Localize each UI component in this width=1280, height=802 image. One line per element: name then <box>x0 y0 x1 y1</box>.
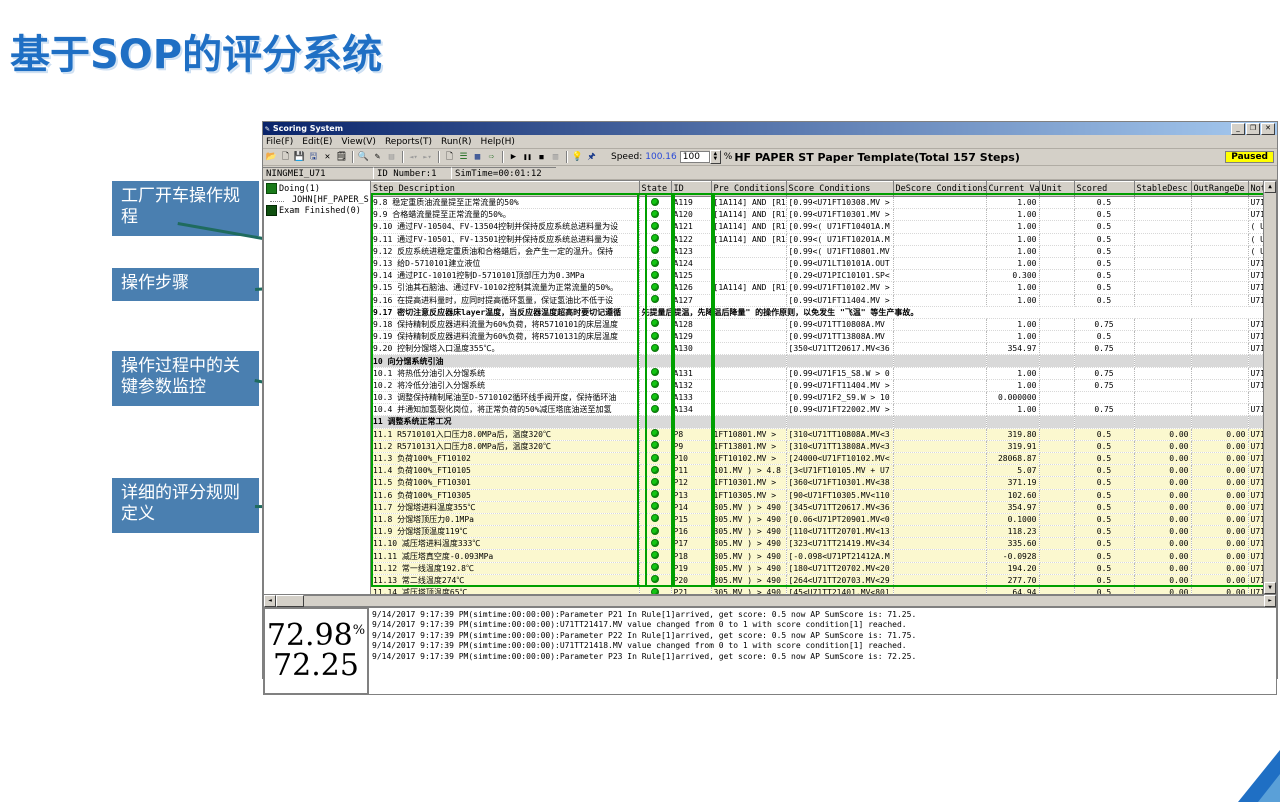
app-icon: ✎ <box>265 124 270 133</box>
cell-score-conditions: [310<U71TT13808A.MV<3 <box>786 440 893 452</box>
main-split: Doing(1) JOHN[HF_PAPER_S Exam Finished(0… <box>263 180 1277 595</box>
cell-pre-conditions: 1FT13801.MV > <box>711 440 786 452</box>
cell-current-value: 371.19 <box>986 477 1039 489</box>
cell-state <box>639 282 671 294</box>
table-row[interactable]: 9.17 密切注意反应器床layer温度，当反应器温度超高时要切记遵循先提量后提… <box>371 306 1277 318</box>
menu-item-edit[interactable]: Edit(E) <box>302 137 332 147</box>
state-led-icon <box>651 198 659 206</box>
cell-step-description: 9.9 合格蜡流量提至正常流量的50%。 <box>371 209 639 221</box>
cell-stable-desc: 0.00 <box>1134 574 1191 586</box>
id-number: ID Number:1 <box>373 167 451 179</box>
cell-out-range-de: 0.00 <box>1191 489 1248 501</box>
log-line: 9/14/2017 9:17:39 PM(simtime:00:00:00):U… <box>372 620 1273 630</box>
cell-stable-desc <box>1134 392 1191 404</box>
state-led-icon <box>651 393 659 401</box>
table-row[interactable]: 9.12 反应系统进稳定重质油和合格蜡后，会产生一定的温升。保持A123[0.9… <box>371 245 1277 257</box>
cell-unit <box>1039 562 1074 574</box>
cell-id <box>671 416 711 428</box>
cell-descore-conditions <box>893 331 986 343</box>
state-led-icon <box>651 405 659 413</box>
cell-out-range-de <box>1191 282 1248 294</box>
help-arrow-icon[interactable]: 🖈 <box>585 151 598 164</box>
cell-current-value: 64.94 <box>986 587 1039 596</box>
cell-scored: 0.5 <box>1074 574 1134 586</box>
cell-stable-desc <box>1134 331 1191 343</box>
cell-state <box>639 440 671 452</box>
cell-state <box>639 465 671 477</box>
cell-score-conditions: [24000<U71FT10102.MV< <box>786 452 893 464</box>
state-led-icon <box>651 563 659 571</box>
cell-scored: 0.75 <box>1074 367 1134 379</box>
col-id[interactable]: ID <box>671 182 711 197</box>
state-led-icon <box>651 466 659 474</box>
cell-state <box>639 416 671 428</box>
cell-current-value: 354.97 <box>986 343 1039 355</box>
state-led-icon <box>651 551 659 559</box>
cell-descore-conditions <box>893 294 986 306</box>
cell-stable-desc: 0.00 <box>1134 501 1191 513</box>
cell-unit <box>1039 209 1074 221</box>
col-unit[interactable]: Unit <box>1039 182 1074 197</box>
cell-step-description: 9.11 通过FV-10501、FV-13501控制并保持反应系统总进料量为设 <box>371 233 639 245</box>
cell-unit <box>1039 197 1074 209</box>
tree-node-exam-finished[interactable]: Exam Finished(0) <box>266 205 370 216</box>
cell-out-range-de <box>1191 379 1248 391</box>
menu-item-file[interactable]: File(F) <box>266 137 293 147</box>
cell-scored: 0.5 <box>1074 270 1134 282</box>
cell-score-conditions <box>786 355 893 367</box>
cell-step-description: 11.3 负荷100%_FT10102 <box>371 452 639 464</box>
cell-score-conditions: [323<U71TT21419.MV<34 <box>786 538 893 550</box>
cell-state <box>639 379 671 391</box>
cell-step-description: 11.7 分馏塔进料温度355℃ <box>371 501 639 513</box>
cell-step-description: 11.10 减压塔进料温度333℃ <box>371 538 639 550</box>
cell-stable-desc: 0.00 <box>1134 465 1191 477</box>
cell-pre-conditions: 1FT10801.MV > <box>711 428 786 440</box>
cell-pre-conditions <box>711 379 786 391</box>
cell-id: P19 <box>671 562 711 574</box>
state-led-icon <box>651 368 659 376</box>
cell-pre-conditions: [1A114] AND [R1 <box>711 282 786 294</box>
h-scroll-thumb[interactable] <box>276 595 304 607</box>
cell-out-range-de: 0.00 <box>1191 465 1248 477</box>
tree-node-doing[interactable]: Doing(1) <box>266 183 370 194</box>
cell-unit <box>1039 489 1074 501</box>
cell-state <box>639 562 671 574</box>
cell-current-value <box>986 416 1039 428</box>
cell-score-conditions: [0.99<U71F15_S8.W > 0 <box>786 367 893 379</box>
cell-scored: 0.5 <box>1074 587 1134 596</box>
cell-stable-desc: 0.00 <box>1134 513 1191 525</box>
menu-item-run[interactable]: Run(R) <box>441 137 472 147</box>
status-badge: Paused <box>1225 151 1274 163</box>
cell-scored: 0.75 <box>1074 343 1134 355</box>
cell-state <box>639 428 671 440</box>
col-score-conditions[interactable]: Score Conditions <box>786 182 893 197</box>
cell-step-description: 9.14 通过PIC-10101控制D-5710101顶部压力为0.3MPa <box>371 270 639 282</box>
log-panel[interactable]: 9/14/2017 9:17:39 PM(simtime:00:00:00):P… <box>369 607 1277 695</box>
table-row[interactable]: 9.14 通过PIC-10101控制D-5710101顶部压力为0.3MPaA1… <box>371 270 1277 282</box>
col-descore-conditions[interactable]: DeScore Conditions <box>893 182 986 197</box>
cell-unit <box>1039 233 1074 245</box>
cell-state <box>639 343 671 355</box>
cell-pre-conditions: 101.MV ) > 4.8 <box>711 465 786 477</box>
col-step-description[interactable]: Step Description <box>371 182 639 197</box>
grid-vertical-scrollbar[interactable]: ▲ ▼ <box>1263 181 1276 594</box>
cell-descore-conditions <box>893 550 986 562</box>
cell-step-description: 11.5 负荷100%_FT10301 <box>371 477 639 489</box>
find-icon[interactable]: 🔍 <box>357 151 370 164</box>
cell-out-range-de: 0.00 <box>1191 452 1248 464</box>
cell-state <box>639 452 671 464</box>
cell-unit <box>1039 245 1074 257</box>
open-folder-icon[interactable]: 📂 <box>265 151 278 164</box>
state-led-icon <box>651 527 659 535</box>
page-icon[interactable]: 🗋 <box>443 151 456 164</box>
table-row[interactable]: 11.14 减压塔顶温度65℃P21305.MV ) > 490[45<U71T… <box>371 587 1277 596</box>
cell-state <box>639 294 671 306</box>
cell-step-description: 11.13 常二线温度274℃ <box>371 574 639 586</box>
cell-descore-conditions <box>893 209 986 221</box>
table-row[interactable]: 11.2 R5710131入口压力8.0MPa后，温度320℃P91FT1380… <box>371 440 1277 452</box>
cell-descore-conditions <box>893 343 986 355</box>
cell-pre-conditions: 305.MV ) > 490 <box>711 574 786 586</box>
state-led-icon <box>651 222 659 230</box>
state-led-icon <box>651 259 659 267</box>
cell-state: 先提量后提温，先降温后降量" 的操作原则，以免发生 "飞温" 等生产事故。 <box>639 306 1277 318</box>
stop-icon[interactable]: ■ <box>535 151 548 164</box>
cell-descore-conditions <box>893 574 986 586</box>
table-row[interactable]: 10.3 调整保持精制尾油至D-5710102循环线手阀开度，保持循环油A133… <box>371 392 1277 404</box>
cell-step-description: 10.2 将冷低分油引入分馏系统 <box>371 379 639 391</box>
cell-unit <box>1039 367 1074 379</box>
cell-unit <box>1039 416 1074 428</box>
table-row[interactable]: 10 向分馏系统引油 <box>371 355 1277 367</box>
delete-icon[interactable]: ✕ <box>321 151 334 164</box>
table-row[interactable]: 11 调整系统正常工况 <box>371 416 1277 428</box>
table-body: 9.8 稳定重质油流量提至正常流量的50%A119[1A114] AND [R1… <box>371 197 1277 596</box>
cell-state <box>639 477 671 489</box>
cell-current-value: 0.1000 <box>986 513 1039 525</box>
cell-out-range-de <box>1191 209 1248 221</box>
tree-node-student[interactable]: JOHN[HF_PAPER_S <box>266 194 370 205</box>
cell-id: P21 <box>671 587 711 596</box>
cell-descore-conditions <box>893 221 986 233</box>
plant-name: NINGMEI_U71 <box>263 167 373 179</box>
cell-stable-desc: 0.00 <box>1134 428 1191 440</box>
template-title: HF PAPER ST Paper Template(Total 157 Ste… <box>734 151 1020 164</box>
table-row[interactable]: 9.11 通过FV-10501、FV-13501控制并保持反应系统总进料量为设A… <box>371 233 1277 245</box>
table-row[interactable]: 9.20 控制分馏塔入口温度355℃。A130[350<U71TT20617.M… <box>371 343 1277 355</box>
percent-sign: % <box>353 624 365 637</box>
redo-icon: ►▾ <box>421 151 434 164</box>
cell-descore-conditions <box>893 245 986 257</box>
cell-stable-desc: 0.00 <box>1134 550 1191 562</box>
cell-stable-desc <box>1134 257 1191 269</box>
cell-state <box>639 392 671 404</box>
cell-scored: 0.5 <box>1074 197 1134 209</box>
cell-step-description: 9.16 在提高进料量时，应同时提高循环氢量，保证氢油比不低于设 <box>371 294 639 306</box>
score-display: 72.98 % 72.25 <box>263 607 369 695</box>
table-row[interactable]: 11.12 常一线温度192.8℃P19305.MV ) > 490[180<U… <box>371 562 1277 574</box>
cell-score-conditions: [0.99<U71FT11404.MV > <box>786 379 893 391</box>
cell-state <box>639 501 671 513</box>
table-row[interactable]: 11.13 常二线温度274℃P20305.MV ) > 490[264<U71… <box>371 574 1277 586</box>
speed-spinner[interactable]: ▲▼ <box>710 150 721 164</box>
cell-out-range-de: 0.00 <box>1191 513 1248 525</box>
speed-current-value: 100.16 <box>645 152 677 162</box>
col-state[interactable]: State <box>639 182 671 197</box>
cell-step-description: 9.20 控制分馏塔入口温度355℃。 <box>371 343 639 355</box>
cell-out-range-de: 0.00 <box>1191 501 1248 513</box>
table-row[interactable]: 9.18 保持精制反应器进料流量为60%负荷，将R5710101的床层温度A12… <box>371 318 1277 330</box>
list-icon[interactable]: ☰ <box>457 151 470 164</box>
cell-current-value: 1.00 <box>986 282 1039 294</box>
cell-state <box>639 538 671 550</box>
speed-input[interactable]: 100 <box>680 151 710 163</box>
table-header-row: Step Description State ID Pre Conditions… <box>371 182 1277 197</box>
new-document-icon[interactable]: 🗋 <box>279 151 292 164</box>
menu-item-view[interactable]: View(V) <box>341 137 376 147</box>
cell-unit <box>1039 440 1074 452</box>
cell-state <box>639 513 671 525</box>
table-row[interactable]: 11.7 分馏塔进料温度355℃P14305.MV ) > 490[345<U7… <box>371 501 1277 513</box>
grid-horizontal-scrollbar[interactable]: ◄ ► <box>263 595 1277 607</box>
cell-id: P17 <box>671 538 711 550</box>
steps-grid-panel[interactable]: Step Description State ID Pre Conditions… <box>371 180 1277 595</box>
cell-out-range-de <box>1191 197 1248 209</box>
table-row[interactable]: 9.8 稳定重质油流量提至正常流量的50%A119[1A114] AND [R1… <box>371 197 1277 209</box>
state-led-icon <box>651 588 659 595</box>
cell-id: A134 <box>671 404 711 416</box>
cell-step-description: 10 向分馏系统引油 <box>371 355 639 367</box>
cell-scored: 0.5 <box>1074 331 1134 343</box>
cell-id: P15 <box>671 513 711 525</box>
scoring-system-window: ✎ Scoring System _ ❐ ✕ File(F) Edit(E) V… <box>262 121 1278 679</box>
cell-state <box>639 197 671 209</box>
table-row[interactable]: 11.6 负荷100%_FT10305P131FT10305.MV >[90<U… <box>371 489 1277 501</box>
hint-icon[interactable]: 💡 <box>571 151 584 164</box>
cell-step-description: 11 调整系统正常工况 <box>371 416 639 428</box>
cell-current-value: 1.00 <box>986 404 1039 416</box>
cell-pre-conditions <box>711 331 786 343</box>
cell-descore-conditions <box>893 404 986 416</box>
table-row[interactable]: 11.5 负荷100%_FT10301P121FT10301.MV >[360<… <box>371 477 1277 489</box>
cell-step-description: 11.11 减压塔真空度-0.093MPa <box>371 550 639 562</box>
scroll-left-button[interactable]: ◄ <box>264 595 276 607</box>
state-led-icon <box>651 246 659 254</box>
cell-stable-desc <box>1134 221 1191 233</box>
cell-state <box>639 550 671 562</box>
cell-unit <box>1039 428 1074 440</box>
scroll-right-button[interactable]: ► <box>1264 595 1276 607</box>
table-row[interactable]: 11.10 减压塔进料温度333℃P17305.MV ) > 490[323<U… <box>371 538 1277 550</box>
cell-descore-conditions <box>893 501 986 513</box>
report-icon[interactable]: ▦ <box>471 151 484 164</box>
cell-step-description: 9.18 保持精制反应器进料流量为60%负荷，将R5710101的床层温度 <box>371 318 639 330</box>
cell-id: P13 <box>671 489 711 501</box>
pencil-icon[interactable]: ✎ <box>371 151 384 164</box>
exam-tree-panel[interactable]: Doing(1) JOHN[HF_PAPER_S Exam Finished(0… <box>263 180 371 595</box>
cell-current-value: 118.23 <box>986 526 1039 538</box>
cell-step-description: 11.12 常一线温度192.8℃ <box>371 562 639 574</box>
pause-icon[interactable]: ❚❚ <box>521 151 534 164</box>
cell-unit <box>1039 343 1074 355</box>
cell-score-conditions: [350<U71TT20617.MV<36 <box>786 343 893 355</box>
cell-stable-desc: 0.00 <box>1134 526 1191 538</box>
callout-operating-procedure: 工厂开车操作规程 <box>112 181 259 236</box>
cell-current-value: 1.00 <box>986 379 1039 391</box>
doing-icon <box>266 183 277 194</box>
cell-pre-conditions: [1A114] AND [R1 <box>711 233 786 245</box>
callout-key-parameter-monitoring: 操作过程中的关键参数监控 <box>112 351 259 406</box>
scroll-up-button[interactable]: ▲ <box>1264 181 1276 193</box>
window-titlebar: ✎ Scoring System _ ❐ ✕ <box>263 122 1277 135</box>
cell-step-description: 9.12 反应系统进稳定重质油和合格蜡后，会产生一定的温升。保持 <box>371 245 639 257</box>
cell-scored: 0.75 <box>1074 404 1134 416</box>
save-as-icon[interactable]: 🖫 <box>307 151 320 164</box>
table-row[interactable]: 11.11 减压塔真空度-0.093MPaP18305.MV ) > 490[-… <box>371 550 1277 562</box>
cell-unit <box>1039 587 1074 596</box>
table-row[interactable]: 11.4 负荷100%_FT10105P11101.MV ) > 4.8[3<U… <box>371 465 1277 477</box>
cell-pre-conditions <box>711 245 786 257</box>
window-title: Scoring System <box>273 124 343 133</box>
save-icon[interactable]: 💾 <box>293 151 306 164</box>
table-row[interactable]: 10.1 将热低分油引入分馏系统A131[0.99<U71F15_S8.W > … <box>371 367 1277 379</box>
cell-step-description: 11.14 减压塔顶温度65℃ <box>371 587 639 596</box>
table-row[interactable]: 10.2 将冷低分油引入分馏系统A132[0.99<U71FT11404.MV … <box>371 379 1277 391</box>
table-icon: ▥ <box>549 151 562 164</box>
cell-current-value: 0.000000 <box>986 392 1039 404</box>
cell-pre-conditions: 305.MV ) > 490 <box>711 550 786 562</box>
cell-stable-desc <box>1134 379 1191 391</box>
cell-descore-conditions <box>893 489 986 501</box>
cell-score-conditions: [0.99<U71FT10301.MV > <box>786 209 893 221</box>
cell-scored: 0.5 <box>1074 233 1134 245</box>
cell-out-range-de: 0.00 <box>1191 587 1248 596</box>
table-row[interactable]: 11.9 分馏塔顶温度119℃P16305.MV ) > 490[110<U71… <box>371 526 1277 538</box>
cell-unit <box>1039 538 1074 550</box>
cell-id: A129 <box>671 331 711 343</box>
cell-stable-desc <box>1134 367 1191 379</box>
cell-stable-desc <box>1134 245 1191 257</box>
tree-node-label: Doing(1) <box>279 184 320 194</box>
cell-step-description: 11.2 R5710131入口压力8.0MPa后，温度320℃ <box>371 440 639 452</box>
table-row[interactable]: 10.4 并通知加氢裂化岗位，将正常负荷的50%减压塔底油送至加氢A134[0.… <box>371 404 1277 416</box>
state-led-icon <box>651 283 659 291</box>
cell-out-range-de <box>1191 343 1248 355</box>
cell-scored <box>1074 416 1134 428</box>
table-row[interactable]: 9.16 在提高进料量时，应同时提高循环氢量，保证氢油比不低于设A127[0.9… <box>371 294 1277 306</box>
close-button[interactable]: ✕ <box>1261 123 1275 135</box>
cell-out-range-de <box>1191 331 1248 343</box>
menu-item-reports[interactable]: Reports(T) <box>385 137 432 147</box>
cell-id: A123 <box>671 245 711 257</box>
cell-descore-conditions <box>893 477 986 489</box>
cell-score-conditions: [0.99<U71FT22002.MV > <box>786 404 893 416</box>
cell-current-value: 1.00 <box>986 257 1039 269</box>
cell-id: P10 <box>671 452 711 464</box>
col-current-value[interactable]: Current Va <box>986 182 1039 197</box>
grid-icon: ▤ <box>385 151 398 164</box>
cell-out-range-de <box>1191 392 1248 404</box>
table-row[interactable]: 11.1 R5710101入口压力8.0MPa后，温度320℃P81FT1080… <box>371 428 1277 440</box>
cell-state <box>639 245 671 257</box>
cell-current-value: 0.300 <box>986 270 1039 282</box>
table-row[interactable]: 9.10 通过FV-10504、FV-13504控制并保持反应系统总进料量为设A… <box>371 221 1277 233</box>
cell-pre-conditions <box>711 343 786 355</box>
play-icon[interactable]: ▶ <box>507 151 520 164</box>
minimize-button[interactable]: _ <box>1231 123 1245 135</box>
cell-stable-desc <box>1134 282 1191 294</box>
cell-pre-conditions: [1A114] AND [R1 <box>711 197 786 209</box>
callout-scoring-rules: 详细的评分规则定义 <box>112 478 259 533</box>
col-out-range-de[interactable]: OutRangeDe <box>1191 182 1248 197</box>
cell-scored: 0.5 <box>1074 562 1134 574</box>
cell-stable-desc <box>1134 416 1191 428</box>
cell-stable-desc <box>1134 355 1191 367</box>
cell-stable-desc <box>1134 294 1191 306</box>
table-row[interactable]: 9.19 保持精制反应器进料流量为60%负荷，将R5710131的床层温度A12… <box>371 331 1277 343</box>
state-led-icon <box>651 429 659 437</box>
scroll-down-button[interactable]: ▼ <box>1264 582 1276 594</box>
toolbar-separator-5 <box>566 151 568 163</box>
restore-button[interactable]: ❐ <box>1246 123 1260 135</box>
col-scored[interactable]: Scored <box>1074 182 1134 197</box>
cell-out-range-de <box>1191 416 1248 428</box>
table-row[interactable]: 11.8 分馏塔顶压力0.1MPaP15305.MV ) > 490[0.06<… <box>371 513 1277 525</box>
state-led-icon <box>651 380 659 388</box>
state-led-icon <box>651 502 659 510</box>
cell-stable-desc <box>1134 404 1191 416</box>
score-raw: 72.25 <box>273 651 359 681</box>
cell-score-conditions: [264<U71TT20703.MV<29 <box>786 574 893 586</box>
cell-stable-desc: 0.00 <box>1134 538 1191 550</box>
table-row[interactable]: 11.3 负荷100%_FT10102P101FT10102.MV >[2400… <box>371 452 1277 464</box>
cell-unit <box>1039 477 1074 489</box>
cell-score-conditions: [0.29<U71PIC10101.SP< <box>786 270 893 282</box>
cell-descore-conditions <box>893 452 986 464</box>
cell-id: A126 <box>671 282 711 294</box>
table-row[interactable]: 9.15 引油其石脑油、通过FV-10102控制其流量为正常流量的50%。A12… <box>371 282 1277 294</box>
table-row[interactable]: 9.9 合格蜡流量提至正常流量的50%。A120[1A114] AND [R1[… <box>371 209 1277 221</box>
properties-icon[interactable]: 🗒 <box>335 151 348 164</box>
col-stable-desc[interactable]: StableDesc <box>1134 182 1191 197</box>
col-pre-conditions[interactable]: Pre Conditions <box>711 182 786 197</box>
cell-step-description: 11.4 负荷100%_FT10105 <box>371 465 639 477</box>
cell-descore-conditions <box>893 355 986 367</box>
export-icon[interactable]: ⇨ <box>485 151 498 164</box>
cell-pre-conditions: [1A114] AND [R1 <box>711 209 786 221</box>
cell-score-conditions: [310<U71TT10808A.MV<3 <box>786 428 893 440</box>
table-row[interactable]: 9.13 给D-5710101建立液位A124[0.99<U71LT10101A… <box>371 257 1277 269</box>
cell-score-conditions: [0.99<( U71FT10201A.M <box>786 233 893 245</box>
menu-item-help[interactable]: Help(H) <box>481 137 515 147</box>
cell-scored: 0.5 <box>1074 282 1134 294</box>
cell-pre-conditions: 1FT10305.MV > <box>711 489 786 501</box>
cell-current-value: 335.60 <box>986 538 1039 550</box>
cell-stable-desc: 0.00 <box>1134 440 1191 452</box>
cell-pre-conditions <box>711 416 786 428</box>
cell-step-description: 11.1 R5710101入口压力8.0MPa后，温度320℃ <box>371 428 639 440</box>
cell-scored <box>1074 355 1134 367</box>
cell-out-range-de <box>1191 233 1248 245</box>
cell-stable-desc: 0.00 <box>1134 587 1191 596</box>
cell-descore-conditions <box>893 233 986 245</box>
cell-id: P8 <box>671 428 711 440</box>
cell-state <box>639 257 671 269</box>
cell-descore-conditions <box>893 379 986 391</box>
